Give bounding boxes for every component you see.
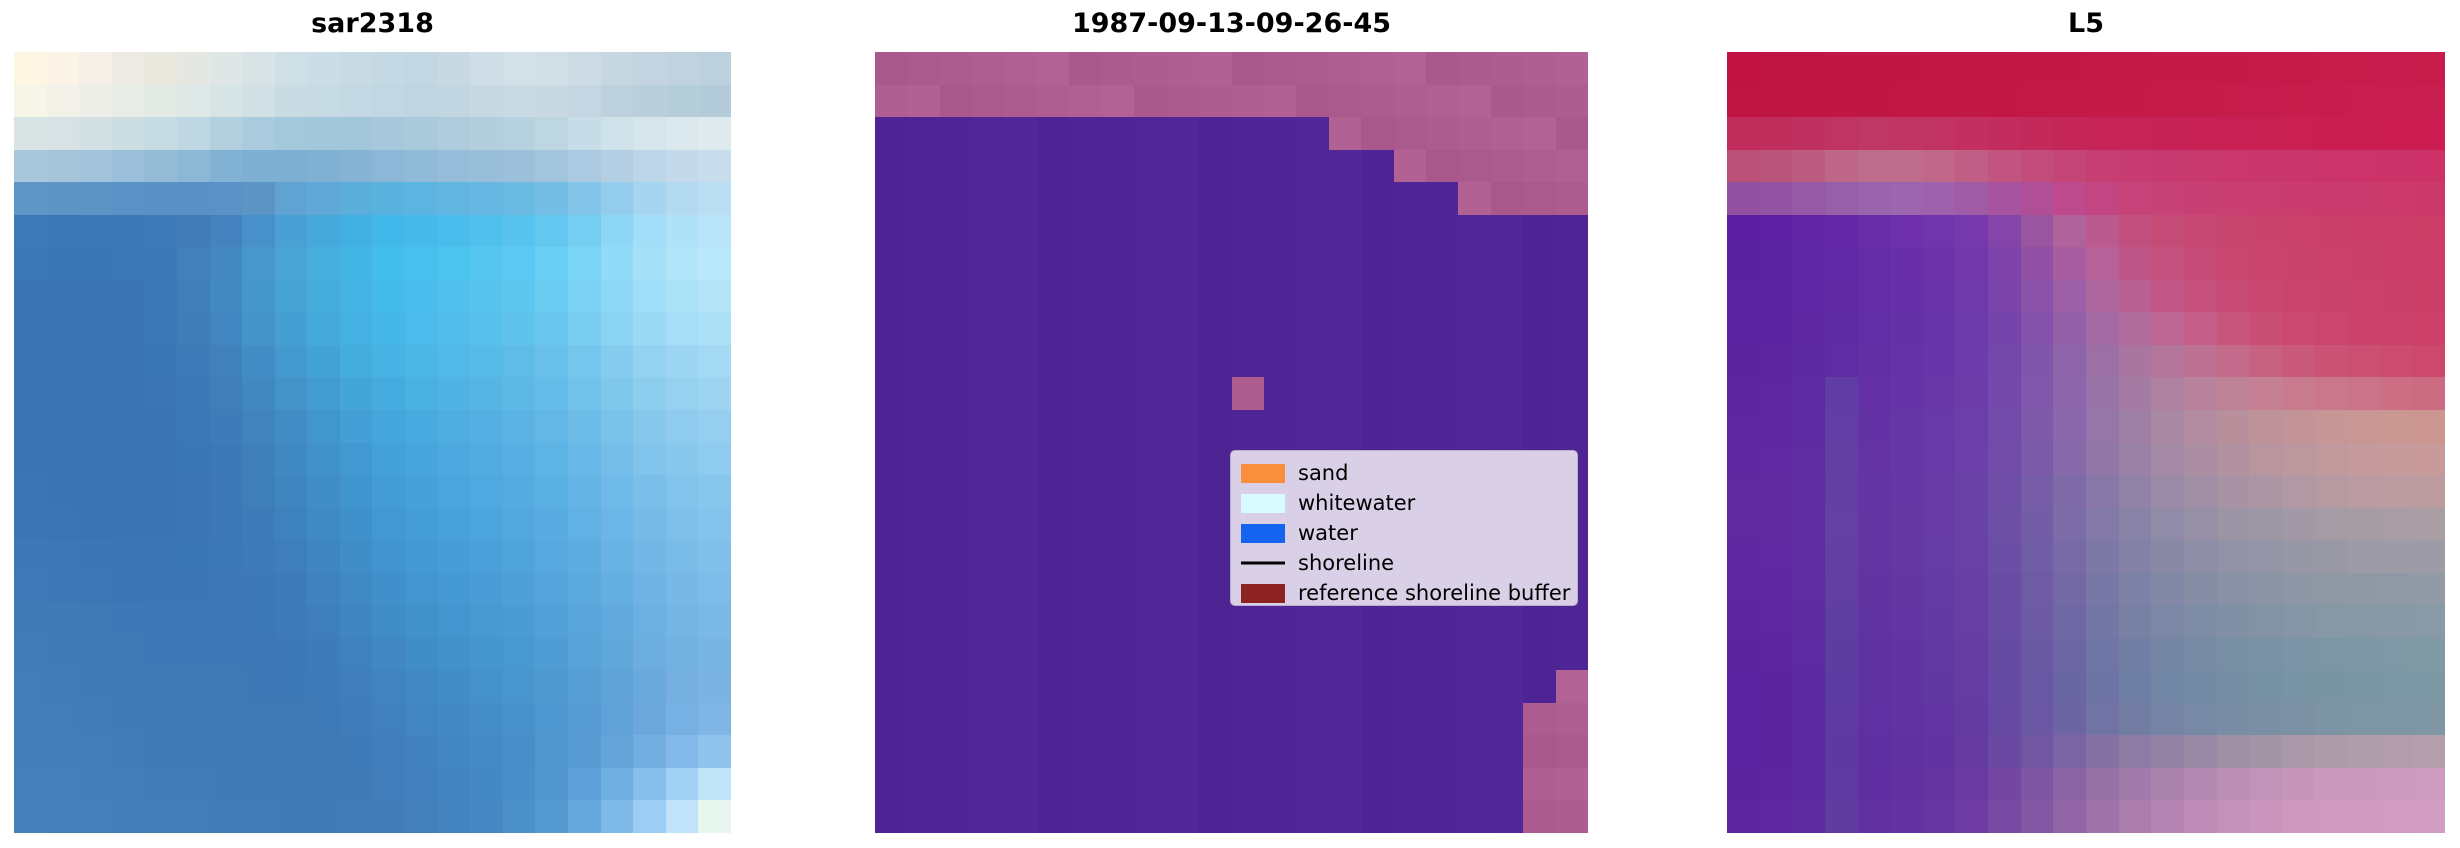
legend-item: water xyxy=(1241,518,1568,548)
legend: sand whitewater water shoreline referenc… xyxy=(1230,450,1578,606)
heatmap-classified xyxy=(875,52,1588,833)
legend-label-whitewater: whitewater xyxy=(1298,491,1415,515)
legend-label-water: water xyxy=(1298,521,1358,545)
legend-swatch-sand xyxy=(1241,464,1285,483)
panel-l5: L5 xyxy=(1727,0,2445,848)
axes-classified xyxy=(875,52,1588,833)
panel-classified: 1987-09-13-09-26-45 sand whitewater wate… xyxy=(875,0,1588,848)
legend-label-shoreline: shoreline xyxy=(1298,551,1394,575)
heatmap-sar xyxy=(14,52,731,833)
legend-item: shoreline xyxy=(1241,548,1568,578)
figure-root: sar2318 1987-09-13-09-26-45 sand whitewa… xyxy=(0,0,2460,848)
axes-sar xyxy=(14,52,731,833)
panel-title-classified: 1987-09-13-09-26-45 xyxy=(875,2,1588,46)
legend-item: reference shoreline buffer xyxy=(1241,578,1568,608)
legend-swatch-shoreline xyxy=(1241,554,1285,573)
legend-item: sand xyxy=(1241,458,1568,488)
axes-l5 xyxy=(1727,52,2445,833)
legend-swatch-reference-shoreline-buffer xyxy=(1241,584,1285,603)
heatmap-l5 xyxy=(1727,52,2445,833)
panel-sar: sar2318 xyxy=(14,0,731,848)
panel-title-sar: sar2318 xyxy=(14,2,731,46)
legend-label-reference-shoreline-buffer: reference shoreline buffer xyxy=(1298,581,1570,605)
legend-swatch-water xyxy=(1241,524,1285,543)
legend-swatch-whitewater xyxy=(1241,494,1285,513)
panel-title-l5: L5 xyxy=(1727,2,2445,46)
legend-item: whitewater xyxy=(1241,488,1568,518)
legend-label-sand: sand xyxy=(1298,461,1348,485)
